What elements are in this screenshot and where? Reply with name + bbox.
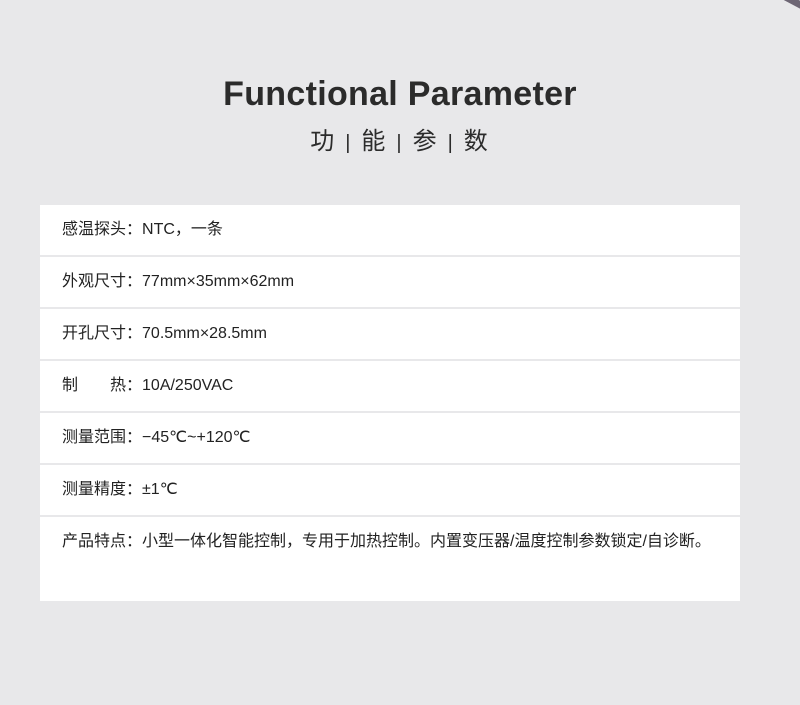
title-english: Functional Parameter [0,72,800,116]
spec-value: −45℃~+120℃ [142,413,718,463]
spec-value: ±1℃ [142,465,718,515]
page-title: Functional Parameter 功|能|参|数 [0,72,800,159]
ribbon-band-4 [500,0,800,28]
table-row: 测量范围： −45℃~+120℃ [40,413,740,463]
title-chinese: 功|能|参|数 [0,126,800,159]
table-row: 外观尺寸： 77mm×35mm×62mm [40,257,740,307]
ribbon-band-3 [500,0,800,19]
table-row: 产品特点： 小型一体化智能控制，专用于加热控制。内置变压器/温度控制参数锁定/自… [40,517,740,601]
spec-label: 感温探头： [62,205,142,255]
title-separator-1: | [336,132,361,154]
spec-label: 测量精度： [62,465,142,515]
title-chinese-char-4: 数 [464,128,490,155]
table-row: 开孔尺寸： 70.5mm×28.5mm [40,309,740,359]
title-chinese-char-1: 功 [310,128,336,155]
spec-label: 开孔尺寸： [62,309,142,359]
spec-label: 制 热： [62,361,142,411]
table-row: 制 热： 10A/250VAC [40,361,740,411]
spec-value: NTC，一条 [142,205,718,255]
title-separator-3: | [439,132,464,154]
title-separator-2: | [387,132,412,154]
title-chinese-char-3: 参 [413,128,439,155]
spec-value: 70.5mm×28.5mm [142,309,718,359]
ribbon-band-2 [500,0,800,8]
table-row: 感温探头： NTC，一条 [40,205,740,255]
table-row: 测量精度： ±1℃ [40,465,740,515]
spec-value: 小型一体化智能控制，专用于加热控制。内置变压器/温度控制参数锁定/自诊断。 [142,517,718,567]
spec-value: 77mm×35mm×62mm [142,257,718,307]
title-chinese-char-2: 能 [361,128,387,155]
spec-label: 产品特点： [62,517,142,567]
spec-value: 10A/250VAC [142,361,718,411]
spec-label: 测量范围： [62,413,142,463]
spec-label: 外观尺寸： [62,257,142,307]
spec-table: 感温探头： NTC，一条 外观尺寸： 77mm×35mm×62mm 开孔尺寸： … [40,205,740,603]
